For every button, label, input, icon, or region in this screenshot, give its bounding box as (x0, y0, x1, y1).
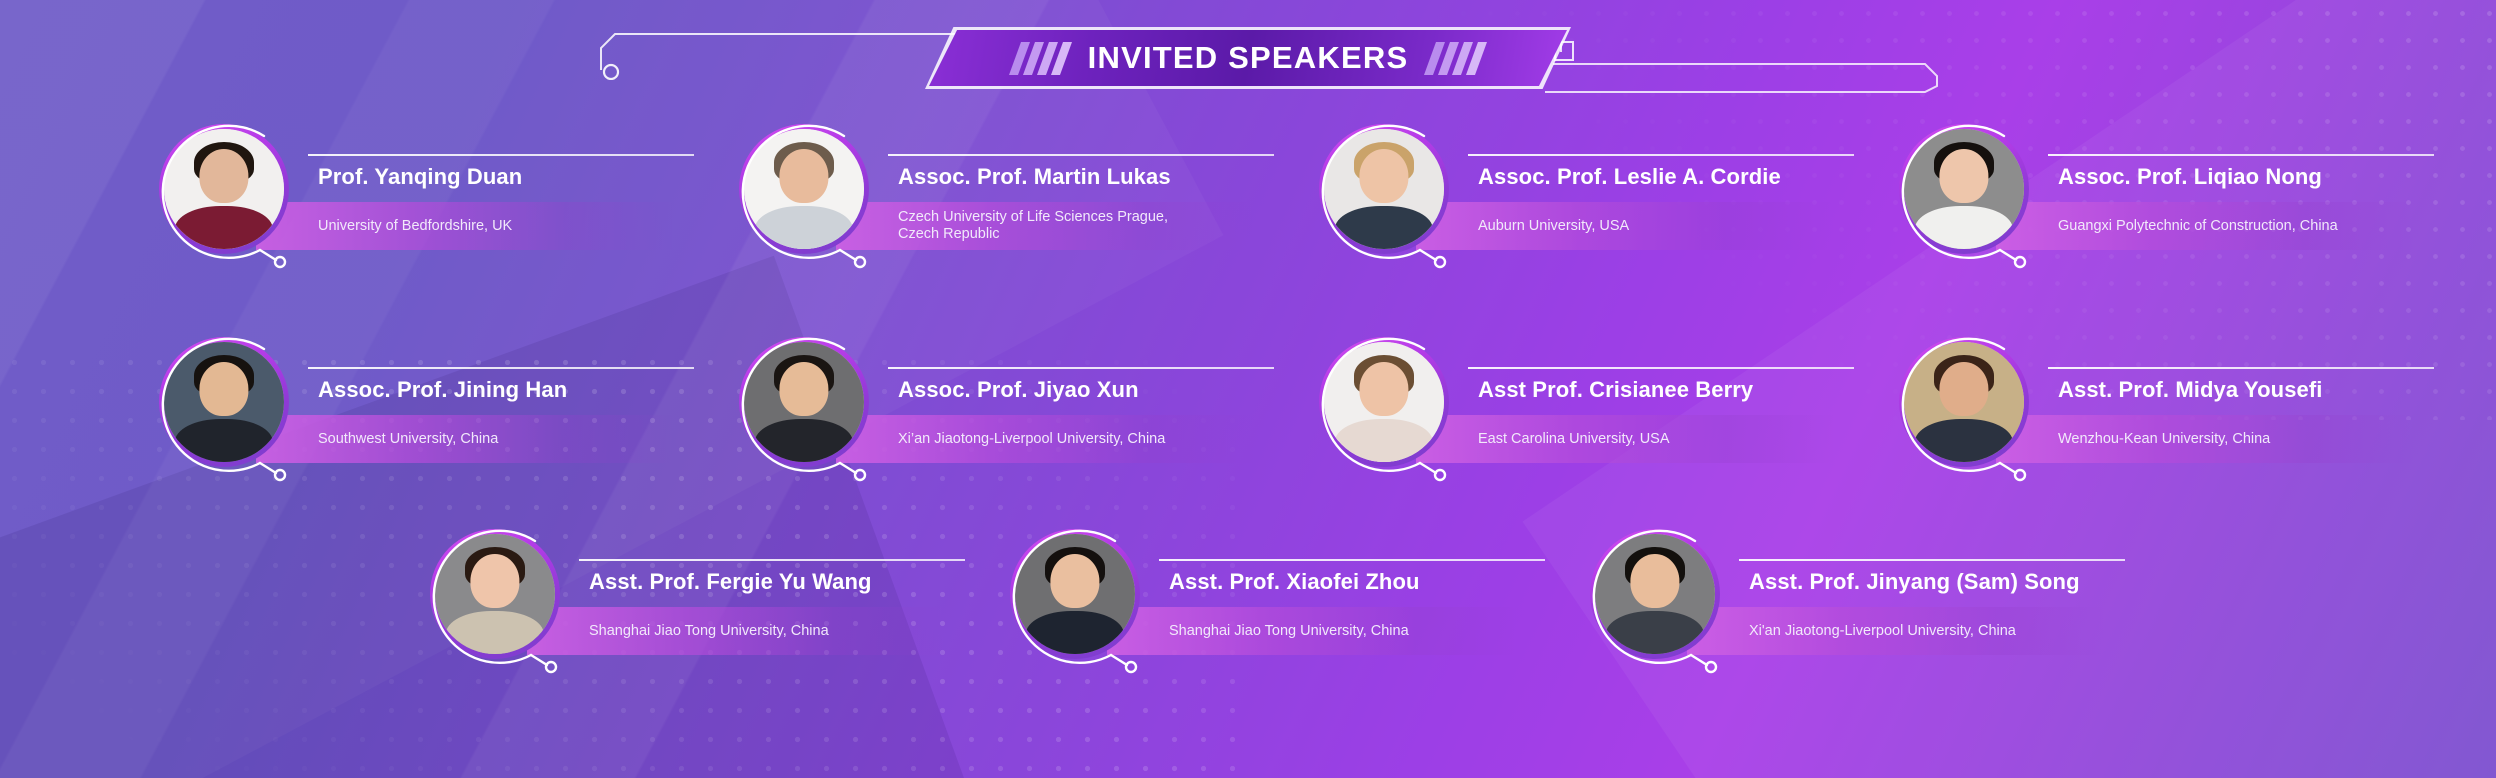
speaker-affiliation-line: Shanghai Jiao Tong University, China (1169, 623, 1553, 640)
speaker-avatar[interactable] (1312, 122, 1456, 266)
speaker-name: Assoc. Prof. Martin Lukas (898, 164, 1171, 190)
speaker-info: Prof. Yanqing Duan University of Bedford… (256, 122, 732, 266)
speaker-info: Asst. Prof. Jinyang (Sam) Song Xi'an Jia… (1687, 527, 2163, 671)
speaker-card[interactable]: Prof. Yanqing Duan University of Bedford… (152, 122, 732, 290)
speaker-name: Assoc. Prof. Leslie A. Cordie (1478, 164, 1781, 190)
speaker-info: Assoc. Prof. Jiyao Xun Xi’an Jiaotong-Li… (836, 335, 1312, 479)
avatar-gradient-ring (739, 124, 869, 254)
speaker-card[interactable]: Asst Prof. Crisianee Berry East Carolina… (1312, 335, 1892, 503)
speaker-info: Assoc. Prof. Leslie A. Cordie Auburn Uni… (1416, 122, 1892, 266)
speaker-affiliation: University of Bedfordshire, UK (318, 202, 702, 250)
speaker-info: Asst. Prof. Xiaofei Zhou Shanghai Jiao T… (1107, 527, 1583, 671)
speaker-avatar[interactable] (1312, 335, 1456, 479)
speaker-card[interactable]: Asst. Prof. Midya Yousefi Wenzhou-Kean U… (1892, 335, 2472, 503)
speaker-affiliation: Shanghai Jiao Tong University, China (589, 607, 973, 655)
avatar-photo (1324, 342, 1444, 462)
speaker-card[interactable]: Assoc. Prof. Leslie A. Cordie Auburn Uni… (1312, 122, 1892, 290)
speaker-top-rule (1468, 154, 1854, 156)
speaker-affiliation: Wenzhou-Kean University, China (2058, 415, 2442, 463)
speaker-affiliation: Czech University of Life Sciences Prague… (898, 202, 1282, 250)
speaker-card[interactable]: Asst. Prof. Xiaofei Zhou Shanghai Jiao T… (1003, 527, 1583, 695)
speaker-avatar[interactable] (1892, 335, 2036, 479)
right-slash-decor-icon (1430, 42, 1481, 75)
right-decor-line-icon (1525, 28, 1945, 94)
speaker-info: Assoc. Prof. Martin Lukas Czech Universi… (836, 122, 1312, 266)
speaker-card[interactable]: Assoc. Prof. Martin Lukas Czech Universi… (732, 122, 1312, 290)
avatar-gradient-ring (1899, 337, 2029, 467)
avatar-photo (1904, 342, 2024, 462)
avatar-photo (164, 342, 284, 462)
speaker-card[interactable]: Assoc. Prof. Liqiao Nong Guangxi Polytec… (1892, 122, 2472, 290)
avatar-photo (435, 534, 555, 654)
speaker-avatar[interactable] (1003, 527, 1147, 671)
speaker-name: Asst. Prof. Xiaofei Zhou (1169, 569, 1420, 595)
speaker-avatar[interactable] (732, 122, 876, 266)
speaker-row-1: Prof. Yanqing Duan University of Bedford… (152, 122, 2382, 290)
speaker-avatar[interactable] (732, 335, 876, 479)
speaker-top-rule (1739, 559, 2125, 561)
speaker-card[interactable]: Assoc. Prof. Jining Han Southwest Univer… (152, 335, 732, 503)
speaker-avatar[interactable] (1892, 122, 2036, 266)
avatar-photo (1595, 534, 1715, 654)
speaker-affiliation: East Carolina University, USA (1478, 415, 1862, 463)
speaker-card[interactable]: Assoc. Prof. Jiyao Xun Xi’an Jiaotong-Li… (732, 335, 1312, 503)
speaker-affiliation: Auburn University, USA (1478, 202, 1862, 250)
poster-header: INVITED SPEAKERS (0, 0, 2496, 110)
speaker-top-rule (2048, 154, 2434, 156)
speaker-top-rule (888, 154, 1274, 156)
avatar-gradient-ring (159, 124, 289, 254)
speaker-name: Assoc. Prof. Jiyao Xun (898, 377, 1139, 403)
speaker-affiliation: Guangxi Polytechnic of Construction, Chi… (2058, 202, 2442, 250)
speaker-name: Assoc. Prof. Jining Han (318, 377, 567, 403)
speaker-affiliation-line: Czech Republic (898, 226, 1282, 243)
speaker-affiliation-line: Xi'an Jiaotong-Liverpool University, Chi… (1749, 623, 2133, 640)
speaker-affiliation-line: Shanghai Jiao Tong University, China (589, 623, 973, 640)
speaker-row-3: Asst. Prof. Fergie Yu Wang Shanghai Jiao… (423, 527, 2113, 695)
speaker-top-rule (1468, 367, 1854, 369)
speaker-top-rule (2048, 367, 2434, 369)
speaker-affiliation: Southwest University, China (318, 415, 702, 463)
avatar-gradient-ring (1010, 529, 1140, 659)
speaker-top-rule (888, 367, 1274, 369)
avatar-gradient-ring (159, 337, 289, 467)
avatar-gradient-ring (1899, 124, 2029, 254)
speaker-affiliation-line: Czech University of Life Sciences Prague… (898, 209, 1282, 226)
speaker-name: Prof. Yanqing Duan (318, 164, 522, 190)
speaker-info: Asst. Prof. Midya Yousefi Wenzhou-Kean U… (1996, 335, 2472, 479)
speaker-affiliation: Xi’an Jiaotong-Liverpool University, Chi… (898, 415, 1282, 463)
speaker-info: Asst. Prof. Fergie Yu Wang Shanghai Jiao… (527, 527, 1003, 671)
speaker-card[interactable]: Asst. Prof. Fergie Yu Wang Shanghai Jiao… (423, 527, 1003, 695)
speaker-affiliation-line: University of Bedfordshire, UK (318, 218, 702, 235)
speaker-top-rule (308, 367, 694, 369)
page-title: INVITED SPEAKERS (1088, 40, 1409, 76)
left-slash-decor-icon (1015, 42, 1066, 75)
avatar-gradient-ring (430, 529, 560, 659)
avatar-photo (744, 342, 864, 462)
speaker-affiliation-line: Wenzhou-Kean University, China (2058, 431, 2442, 448)
speaker-info: Asst Prof. Crisianee Berry East Carolina… (1416, 335, 1892, 479)
avatar-gradient-ring (1590, 529, 1720, 659)
avatar-gradient-ring (1319, 337, 1449, 467)
speaker-affiliation-line: Xi’an Jiaotong-Liverpool University, Chi… (898, 431, 1282, 448)
left-decor-line-icon (597, 32, 957, 80)
speaker-affiliation: Shanghai Jiao Tong University, China (1169, 607, 1553, 655)
speaker-top-rule (1159, 559, 1545, 561)
speaker-affiliation-line: East Carolina University, USA (1478, 431, 1862, 448)
avatar-gradient-ring (739, 337, 869, 467)
speaker-name: Asst. Prof. Fergie Yu Wang (589, 569, 872, 595)
speaker-avatar[interactable] (1583, 527, 1727, 671)
avatar-photo (1015, 534, 1135, 654)
speaker-name: Asst. Prof. Midya Yousefi (2058, 377, 2323, 403)
speaker-top-rule (579, 559, 965, 561)
speaker-info: Assoc. Prof. Liqiao Nong Guangxi Polytec… (1996, 122, 2472, 266)
avatar-photo (164, 129, 284, 249)
avatar-photo (744, 129, 864, 249)
speaker-affiliation-line: Auburn University, USA (1478, 218, 1862, 235)
speaker-name: Asst Prof. Crisianee Berry (1478, 377, 1753, 403)
speaker-info: Assoc. Prof. Jining Han Southwest Univer… (256, 335, 732, 479)
speaker-avatar[interactable] (152, 335, 296, 479)
speaker-card[interactable]: Asst. Prof. Jinyang (Sam) Song Xi'an Jia… (1583, 527, 2163, 695)
speaker-avatar[interactable] (423, 527, 567, 671)
invited-speakers-poster: INVITED SPEAKERS (0, 0, 2496, 778)
speaker-name: Assoc. Prof. Liqiao Nong (2058, 164, 2322, 190)
speaker-affiliation-line: Southwest University, China (318, 431, 702, 448)
speaker-avatar[interactable] (152, 122, 296, 266)
avatar-photo (1324, 129, 1444, 249)
speaker-row-2: Assoc. Prof. Jining Han Southwest Univer… (152, 335, 2382, 503)
section-title-banner: INVITED SPEAKERS (929, 30, 1567, 86)
speaker-top-rule (308, 154, 694, 156)
avatar-gradient-ring (1319, 124, 1449, 254)
speaker-affiliation: Xi'an Jiaotong-Liverpool University, Chi… (1749, 607, 2133, 655)
avatar-photo (1904, 129, 2024, 249)
speaker-affiliation-line: Guangxi Polytechnic of Construction, Chi… (2058, 218, 2442, 235)
speaker-name: Asst. Prof. Jinyang (Sam) Song (1749, 569, 2080, 595)
